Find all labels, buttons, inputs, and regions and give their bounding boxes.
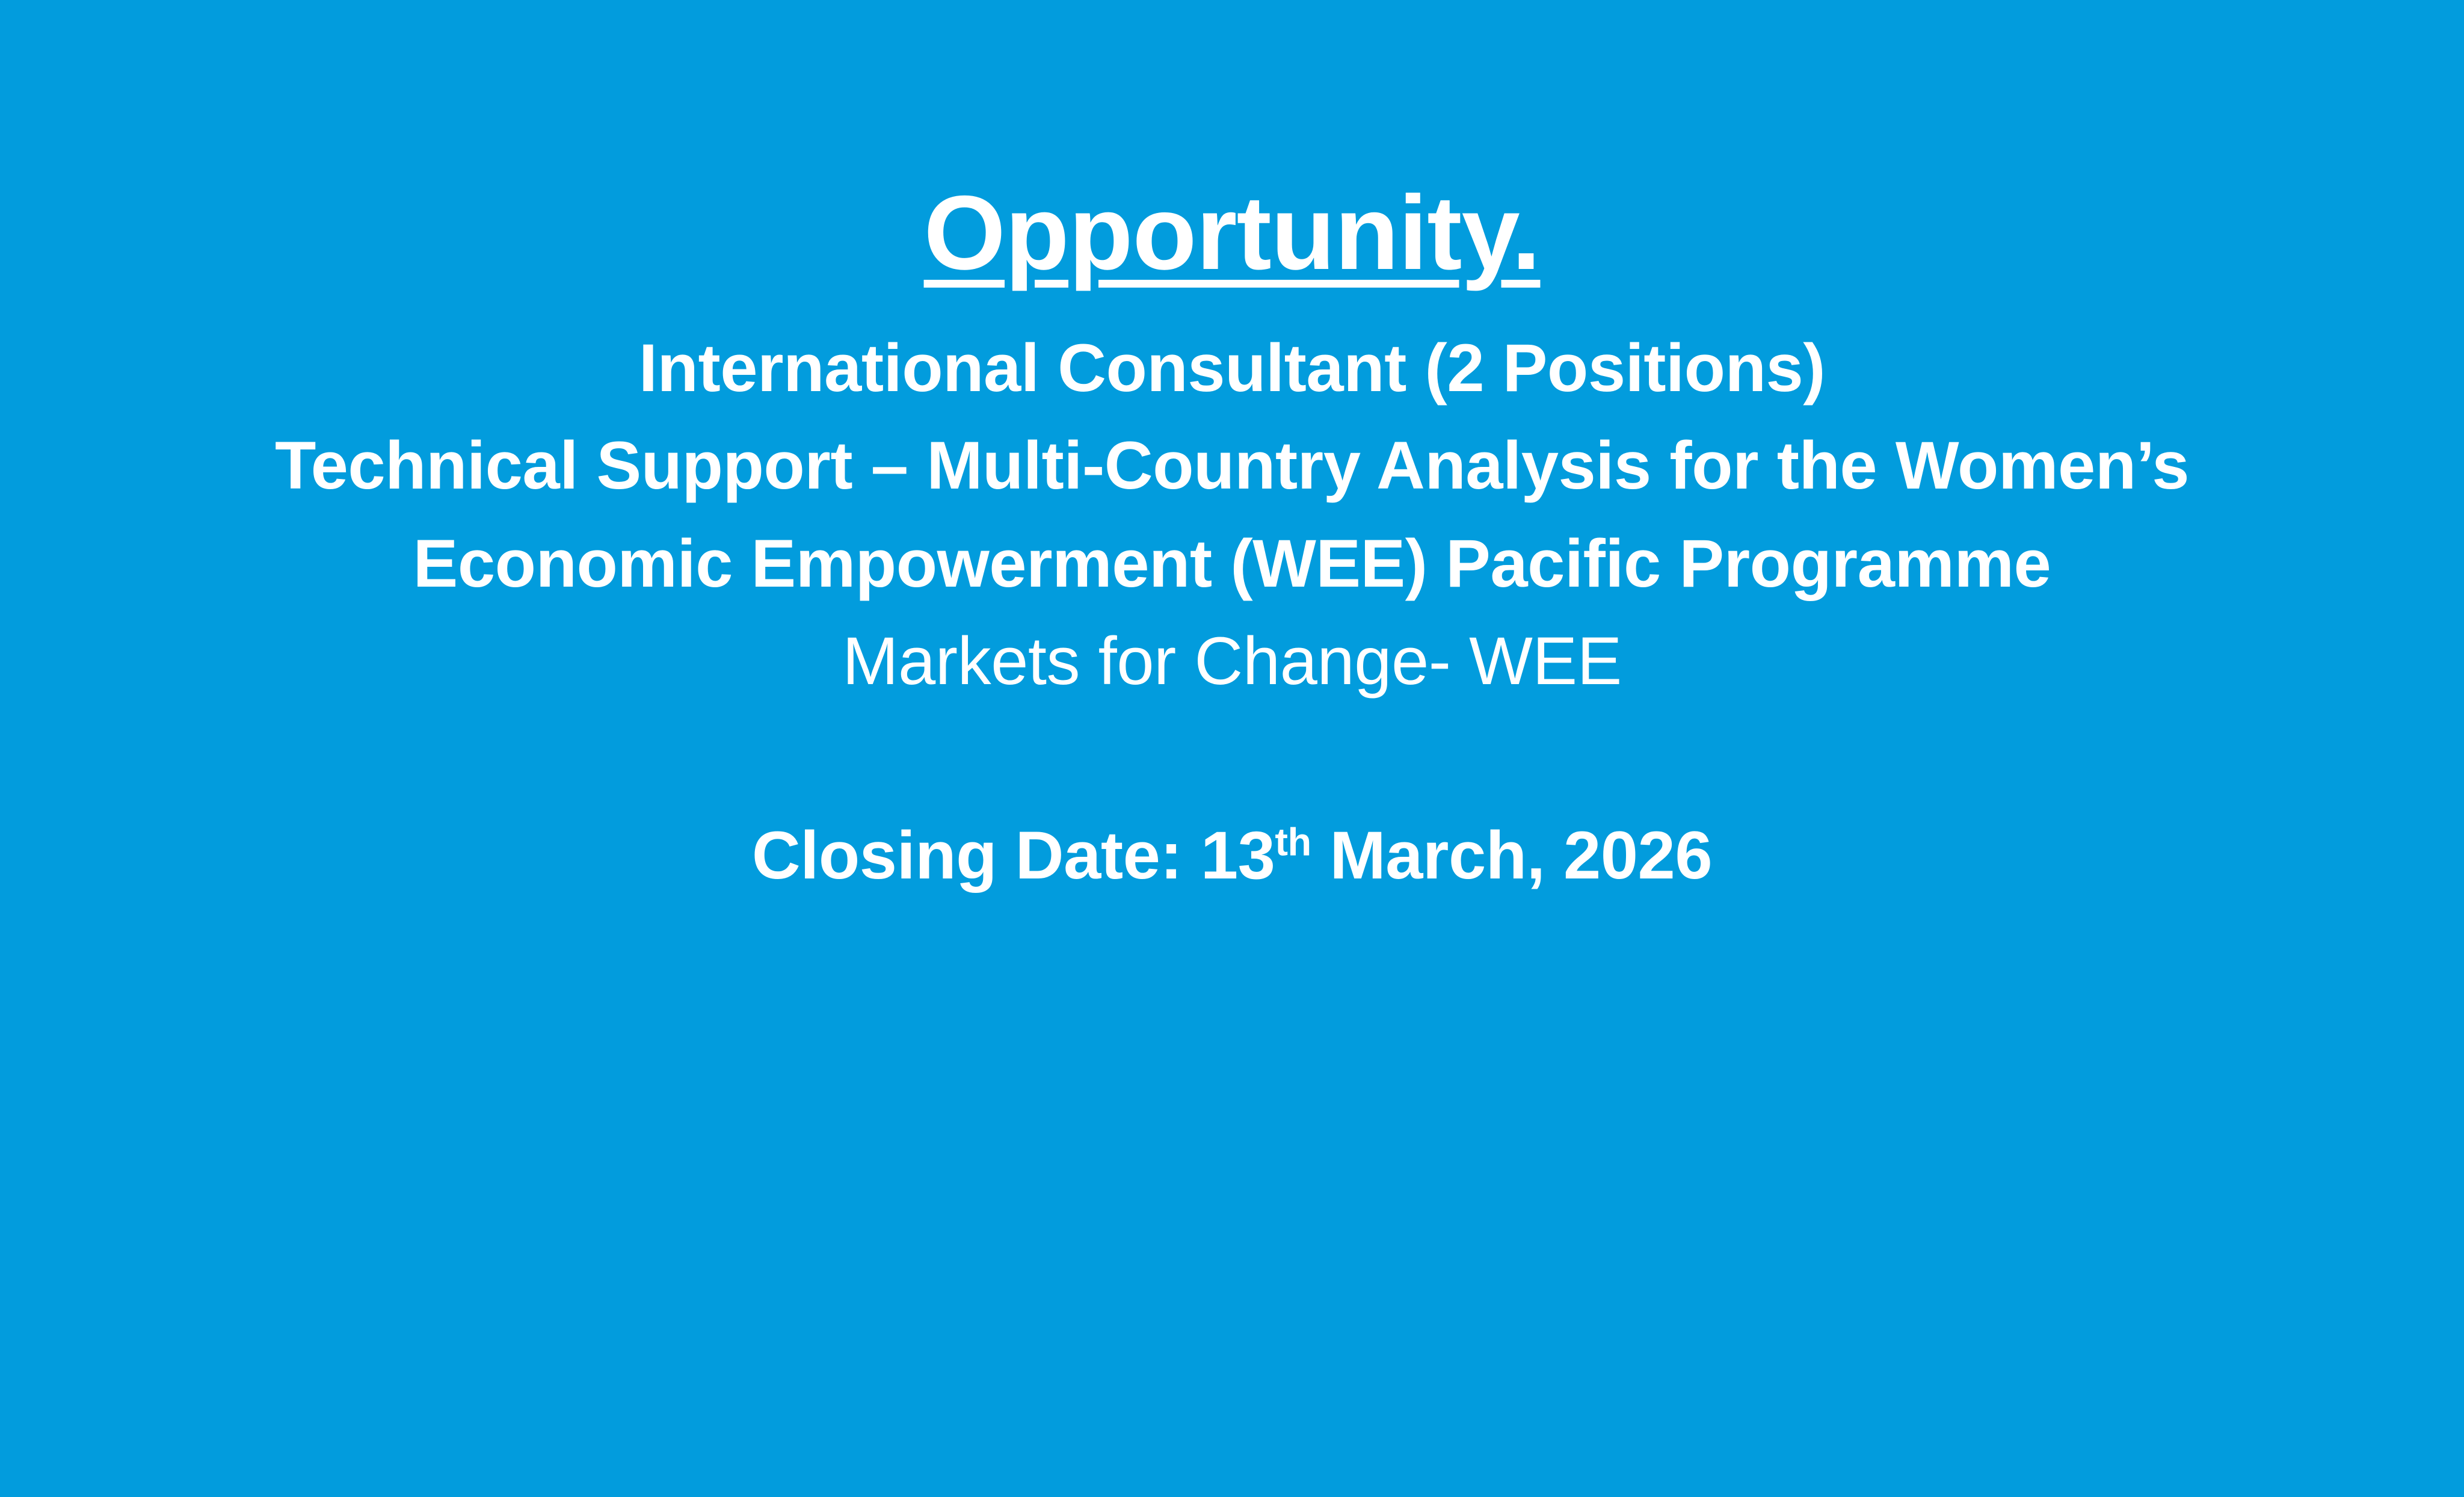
title-block: Opportunity. <box>0 181 2464 286</box>
page-title: Opportunity. <box>924 181 1541 286</box>
assignment-title-line-2: Economic Empowerment (WEE) Pacific Progr… <box>0 515 2464 613</box>
programme-name: Markets for Change- WEE <box>0 613 2464 710</box>
opportunity-announcement-slide: Opportunity. International Consultant (2… <box>0 0 2464 1497</box>
closing-date-label: Closing Date: <box>752 818 1201 893</box>
closing-date-block: Closing Date: 13th March, 2026 <box>0 807 2464 904</box>
assignment-title-line-1: Technical Support – Multi-Country Analys… <box>0 417 2464 514</box>
closing-date-day-suffix: th <box>1275 819 1311 863</box>
closing-date: Closing Date: 13th March, 2026 <box>0 807 2464 904</box>
announcement-body: International Consultant (2 Positions) T… <box>0 319 2464 904</box>
position-title: International Consultant (2 Positions) <box>0 319 2464 417</box>
blank-line-spacer <box>0 711 2464 807</box>
closing-date-day: 13 <box>1201 818 1275 893</box>
closing-date-month-year: March, 2026 <box>1311 818 1712 893</box>
